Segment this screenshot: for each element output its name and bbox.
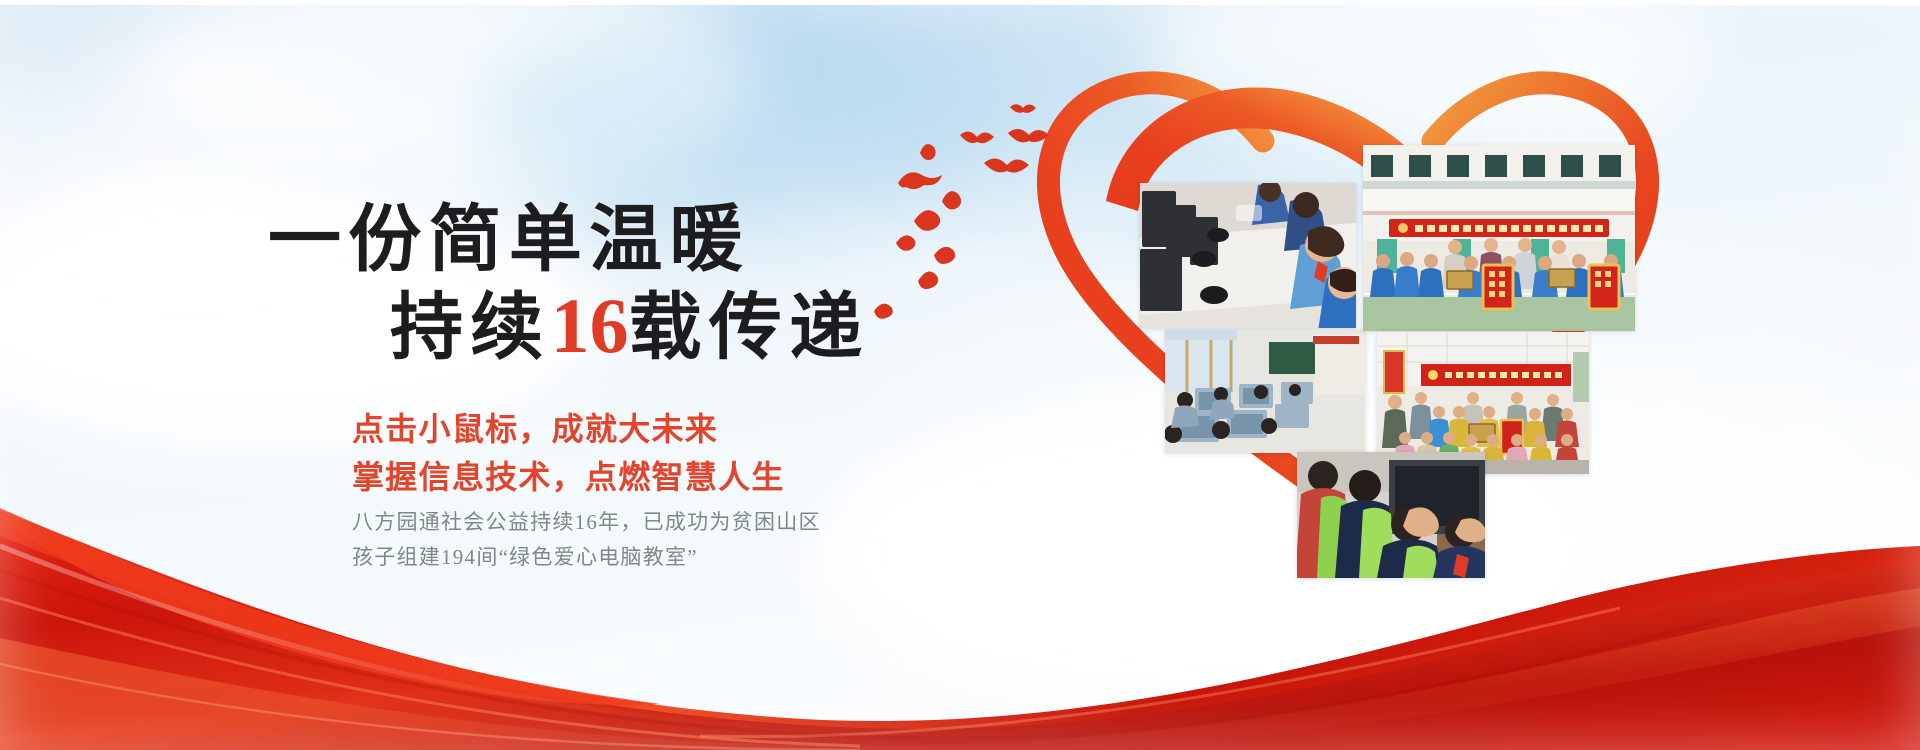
headline-line2-prefix: 持续 <box>390 287 551 368</box>
promotional-banner: 一份简单温暖 持续16载传递 点击小鼠标，成就大未来 掌握信息技术，点燃智慧人生… <box>0 0 1920 750</box>
ribbon-svg <box>0 450 1920 750</box>
headline-line2-suffix: 载传递 <box>629 287 870 368</box>
bird-icon <box>920 144 936 160</box>
photo-art <box>1363 145 1635 331</box>
photo-donation-ceremony-school <box>1363 145 1635 331</box>
headline-years-number: 16 <box>551 282 629 369</box>
photo-art <box>1140 183 1356 328</box>
photo-art <box>1165 330 1365 453</box>
headline-line-2: 持续16载传递 <box>390 268 870 374</box>
bird-icon <box>1010 104 1036 113</box>
bird-icon <box>918 272 938 290</box>
bird-icon <box>984 158 1029 172</box>
bird-icon <box>1008 129 1049 142</box>
photo-classroom-overview <box>1165 330 1365 453</box>
bird-icon <box>898 172 942 189</box>
subtitle-line-1: 点击小鼠标，成就大未来 <box>352 404 718 450</box>
bird-icon <box>934 247 955 264</box>
bird-icon <box>942 191 961 209</box>
bird-icon <box>914 210 940 231</box>
bird-icon <box>960 131 994 143</box>
photo-computer-lab-students <box>1140 183 1356 328</box>
red-silk-ribbon <box>0 450 1920 750</box>
